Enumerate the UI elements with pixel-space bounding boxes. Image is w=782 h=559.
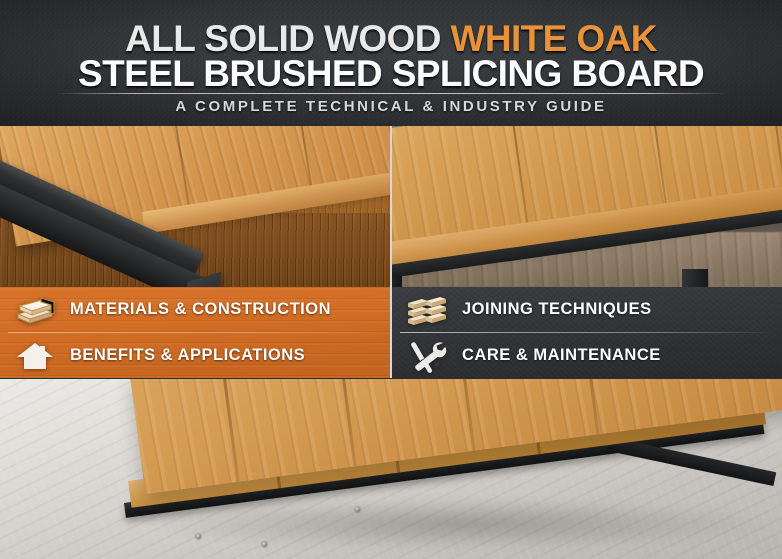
- timber-stack-icon: [392, 287, 462, 332]
- category-bars: MATERIALS & CONSTRUCTION BENEFITS & APPL…: [0, 287, 782, 378]
- category-label: CARE & MAINTENANCE: [462, 346, 661, 365]
- hero-screw: [355, 507, 360, 512]
- header-subtitle: A COMPLETE TECHNICAL & INDUSTRY GUIDE: [0, 98, 782, 115]
- category-column-left: MATERIALS & CONSTRUCTION BENEFITS & APPL…: [0, 287, 390, 378]
- category-column-right: JOINING TECHNIQUES: [392, 287, 782, 378]
- tools-icon: [392, 333, 462, 378]
- title-line-2: STEEL BRUSHED SPLICING BOARD: [0, 53, 782, 95]
- photo-row: [0, 126, 782, 287]
- infographic-poster: ALL SOLID WOOD WHITE OAK STEEL BRUSHED S…: [0, 0, 782, 559]
- category-item-care-maintenance[interactable]: CARE & MAINTENANCE: [392, 333, 782, 378]
- photo-right-leg-front: [682, 269, 708, 287]
- wood-planks-icon: [0, 287, 70, 332]
- category-label: JOINING TECHNIQUES: [462, 300, 652, 319]
- photo-oak-slab-table-steel-legs: [392, 126, 782, 287]
- category-item-joining-techniques[interactable]: JOINING TECHNIQUES: [392, 287, 782, 332]
- category-label: BENEFITS & APPLICATIONS: [70, 346, 305, 365]
- category-label: MATERIALS & CONSTRUCTION: [70, 300, 331, 319]
- header-divider: [55, 93, 727, 94]
- photo-oak-board-with-steel-edge: [0, 126, 390, 287]
- hero-steel-support-right: [607, 437, 776, 486]
- house-icon: [0, 333, 70, 378]
- category-item-benefits-applications[interactable]: BENEFITS & APPLICATIONS: [0, 333, 390, 378]
- hero-oak-splicing-board: [130, 379, 782, 527]
- hero-product-image: SOLID WHITE OAK STEEL BRUSHED SUPPORT PR…: [0, 379, 782, 559]
- header-banner: ALL SOLID WOOD WHITE OAK STEEL BRUSHED S…: [0, 0, 782, 126]
- hero-screw: [196, 534, 201, 539]
- category-item-materials-construction[interactable]: MATERIALS & CONSTRUCTION: [0, 287, 390, 332]
- hero-screw: [262, 542, 267, 547]
